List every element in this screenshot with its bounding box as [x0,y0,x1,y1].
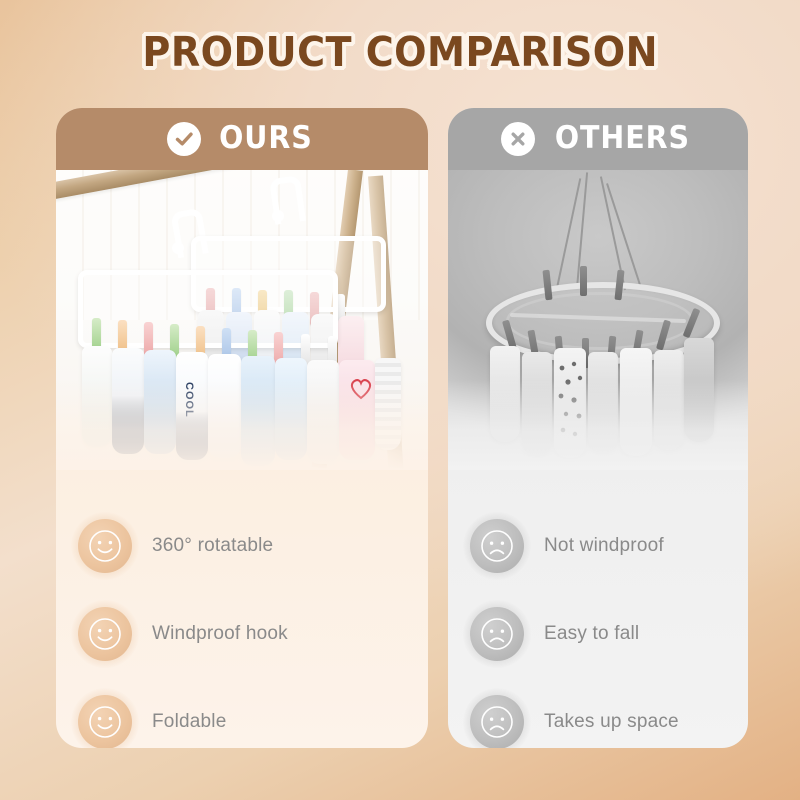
sad-face-icon [470,607,524,661]
card-title-ours: OURS [219,123,313,156]
feature-label: Windproof hook [152,623,288,645]
feature-label: Takes up space [544,711,679,733]
page-title-wrap: PRODUCT COMPARISON [0,28,800,76]
feature-item: Easy to fall [470,590,748,678]
feature-item: Not windproof [470,502,748,590]
comparison-card-ours: OURS [56,108,428,748]
smiley-face-icon [78,695,132,748]
card-header-ours: OURS [56,108,428,170]
feature-label: 360° rotatable [152,535,273,557]
product-photo-others [448,170,748,470]
cross-circle-icon [501,122,535,156]
feature-item: Takes up space [470,678,748,748]
sad-face-icon [470,695,524,748]
hanger-frame [78,270,338,348]
smiley-face-icon [78,607,132,661]
page-title: PRODUCT COMPARISON [142,28,658,76]
product-comparison-page: PRODUCT COMPARISON OURS [0,0,800,800]
feature-label: Not windproof [544,535,664,557]
sad-face-icon [470,519,524,573]
card-header-others: OTHERS [448,108,748,170]
comparison-card-others: OTHERS [448,108,748,748]
feature-label: Easy to fall [544,623,639,645]
feature-item: Windproof hook [78,590,428,678]
feature-list-others: Not windproof Easy to fall [448,470,748,748]
feature-list-ours: 360° rotatable Windproof hook [56,470,428,748]
smiley-face-icon [78,519,132,573]
product-photo-ours: COOL [56,170,428,470]
check-circle-icon [167,122,201,156]
feature-label: Foldable [152,711,226,733]
feature-item: 360° rotatable [78,502,428,590]
card-title-others: OTHERS [554,123,689,156]
feature-item: Foldable [78,678,428,748]
